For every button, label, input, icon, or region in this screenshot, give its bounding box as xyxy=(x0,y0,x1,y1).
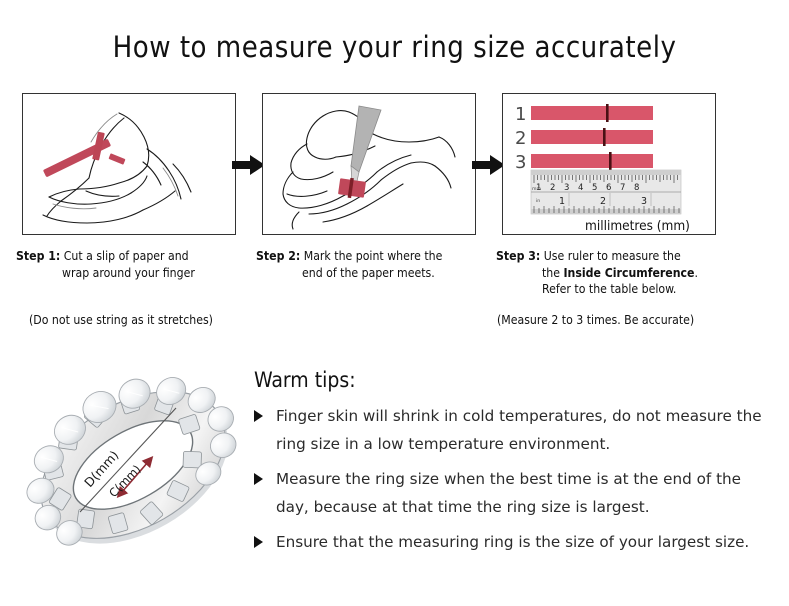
step-1-illustration-panel xyxy=(22,93,236,235)
strip-mark-1 xyxy=(606,104,609,122)
step-1-line1: Cut a slip of paper and xyxy=(64,249,189,263)
strips-and-ruler-drawing: 1 2 3 xyxy=(503,94,715,234)
measure-strip-2 xyxy=(531,130,653,144)
svg-text:5: 5 xyxy=(592,183,597,193)
svg-text:7: 7 xyxy=(620,183,625,193)
triangle-bullet-icon xyxy=(254,536,263,548)
tip-text: Finger skin will shrink in cold temperat… xyxy=(276,407,762,453)
step-1-line2: wrap around your finger xyxy=(16,265,254,282)
svg-text:in: in xyxy=(536,198,540,204)
ring-size-guide-page: How to measure your ring size accurately xyxy=(0,0,789,606)
step-3-line2: the Inside Circumference. xyxy=(496,265,734,282)
svg-text:4: 4 xyxy=(578,183,583,193)
step-3-illustration-panel: 1 2 3 xyxy=(502,93,716,235)
step-3-line1: Use ruler to measure the xyxy=(544,249,681,263)
step-2-line2: end of the paper meets. xyxy=(256,265,494,282)
tip-text: Measure the ring size when the best time… xyxy=(276,470,741,516)
step-2-line1: Mark the point where the xyxy=(304,249,443,263)
svg-text:2: 2 xyxy=(600,196,606,207)
measure-strip-1 xyxy=(531,106,653,120)
tip-item: Measure the ring size when the best time… xyxy=(254,465,764,521)
step-2-label: Step 2: xyxy=(256,249,300,263)
svg-text:3: 3 xyxy=(641,196,647,207)
step-3-line3: Refer to the table below. xyxy=(496,281,734,298)
svg-text:mm: mm xyxy=(532,187,541,192)
measure-strip-3 xyxy=(531,154,653,168)
step-1-note: (Do not use string as it stretches) xyxy=(29,313,213,327)
strip-number-3: 3 xyxy=(515,152,526,173)
triangle-bullet-icon xyxy=(254,410,263,422)
svg-text:1: 1 xyxy=(559,196,565,207)
tip-text: Ensure that the measuring ring is the si… xyxy=(276,533,749,551)
strip-number-1: 1 xyxy=(515,104,526,125)
warm-tips-list: Finger skin will shrink in cold temperat… xyxy=(254,402,764,563)
arrow-right-icon-2 xyxy=(472,153,506,177)
hand-marking-paper-drawing xyxy=(263,94,475,234)
step-3-label: Step 3: xyxy=(496,249,540,263)
svg-text:8: 8 xyxy=(634,183,639,193)
svg-text:6: 6 xyxy=(606,183,611,193)
triangle-bullet-icon xyxy=(254,473,263,485)
ruler-graphic: 123 456 78 mm 123 in xyxy=(531,170,681,214)
svg-text:3: 3 xyxy=(564,183,569,193)
step-1-caption: Step 1: Cut a slip of paper and wrap aro… xyxy=(16,248,254,281)
ruler-unit-caption: millimetres (mm) xyxy=(585,218,690,234)
page-title: How to measure your ring size accurately xyxy=(0,30,789,64)
svg-text:2: 2 xyxy=(550,183,555,193)
step-2-caption: Step 2: Mark the point where the end of … xyxy=(256,248,494,281)
inside-circumference-emphasis: Inside Circumference xyxy=(563,266,694,280)
ring-diagram: D(mm) C(mm) xyxy=(18,350,248,580)
warm-tips-heading: Warm tips: xyxy=(254,368,356,392)
strip-mark-2 xyxy=(603,128,606,146)
tip-item: Finger skin will shrink in cold temperat… xyxy=(254,402,764,458)
step-3-caption: Step 3: Use ruler to measure the the Ins… xyxy=(496,248,734,298)
tip-item: Ensure that the measuring ring is the si… xyxy=(254,528,764,556)
step-2-illustration-panel xyxy=(262,93,476,235)
hand-with-paper-strip-drawing xyxy=(23,94,235,234)
arrow-right-icon-1 xyxy=(232,153,266,177)
step-3-note: (Measure 2 to 3 times. Be accurate) xyxy=(497,313,694,327)
step-1-label: Step 1: xyxy=(16,249,60,263)
strip-mark-3 xyxy=(609,152,612,170)
strip-number-2: 2 xyxy=(515,128,526,149)
